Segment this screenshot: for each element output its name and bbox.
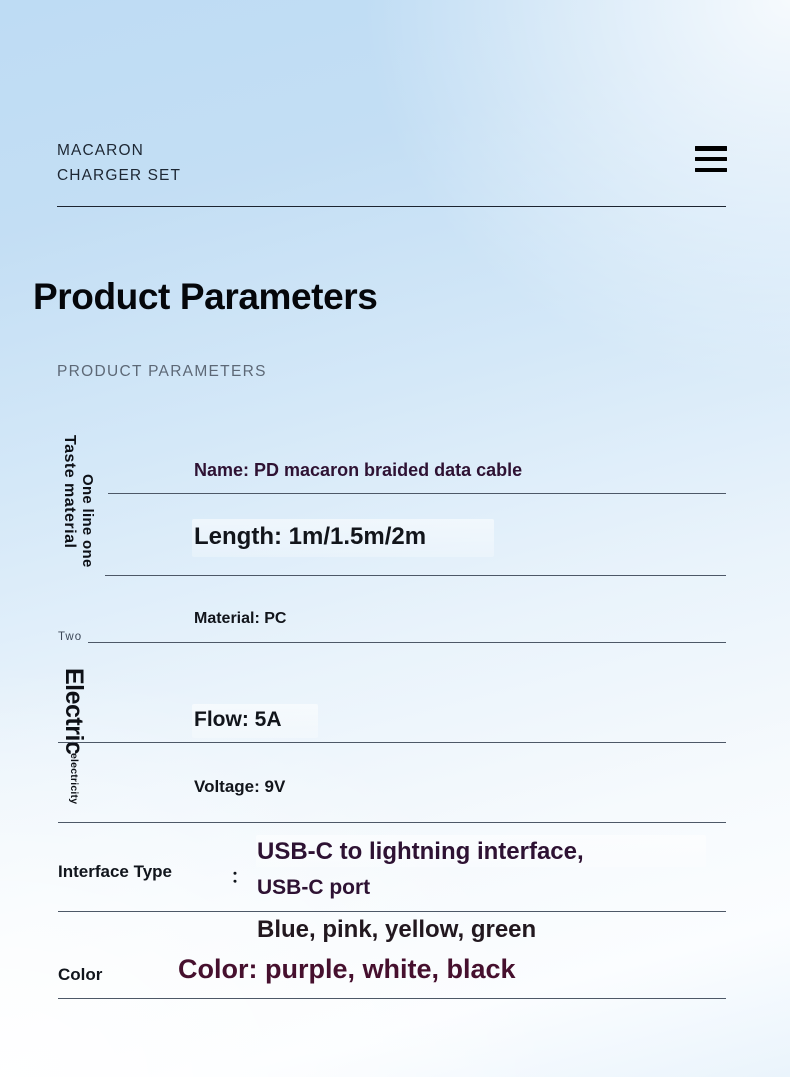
group-one-number-label: One line one (79, 474, 96, 568)
product-parameters-page: MACARON CHARGER SET Product Parameters P… (0, 0, 790, 1077)
interface-value-line2: USB-C port (257, 876, 370, 900)
spec-value-flow: Flow: 5A (194, 708, 282, 732)
spec-divider-6 (58, 911, 726, 912)
spec-divider-5 (58, 822, 726, 823)
row-label-interface-type: Interface Type (58, 862, 172, 882)
interface-value-line1: USB-C to lightning interface, (257, 838, 584, 866)
spec-value-length: Length: 1m/1.5m/2m (194, 523, 426, 551)
spec-divider-7 (58, 998, 726, 999)
spec-divider-3 (88, 642, 726, 643)
spec-table: Taste material One line one Two Electric… (0, 420, 790, 1020)
spec-divider-4 (58, 742, 726, 743)
hamburger-bar-2 (695, 157, 727, 162)
row-separator-interface-type: ： (231, 863, 247, 887)
spec-value-voltage: Voltage: 9V (194, 777, 285, 797)
hamburger-bar-3 (695, 168, 727, 173)
spec-divider-2 (105, 575, 726, 576)
page-subtitle: PRODUCT PARAMETERS (57, 363, 267, 381)
color-value-line1: Blue, pink, yellow, green (257, 916, 536, 944)
spec-divider-1 (108, 493, 726, 494)
group-one-vertical-label: Taste material (60, 435, 78, 548)
page-title: Product Parameters (33, 276, 377, 318)
group-two-vertical-small-label: electricity (68, 753, 80, 804)
group-two-number-label: Two (58, 631, 82, 643)
spec-value-name: Name: PD macaron braided data cable (194, 460, 522, 481)
hamburger-bar-1 (695, 146, 727, 151)
color-value-line2: Color: purple, white, black (178, 954, 516, 985)
page-header: MACARON CHARGER SET (57, 138, 727, 210)
header-divider (57, 206, 726, 207)
brand-title: MACARON CHARGER SET (57, 138, 181, 188)
spec-value-material: Material: PC (194, 610, 286, 628)
row-label-color: Color (58, 965, 102, 985)
hamburger-menu-icon[interactable] (695, 146, 727, 172)
